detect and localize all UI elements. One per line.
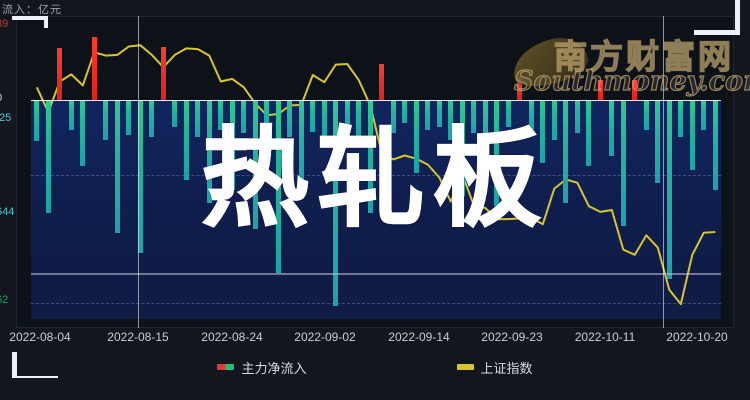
legend-label-index: 上证指数 [481,358,533,377]
x-axis-label-7: 2022-10-20 [666,330,727,344]
gridline-dashed-bottom [31,303,721,304]
x-axis-label-2: 2022-08-24 [201,330,262,344]
bar-49[interactable] [598,80,603,100]
y-axis-label-1: 0 [0,92,2,104]
legend-item-index[interactable]: 上证指数 [457,358,533,377]
y-axis-label-0: 39 [0,18,8,30]
x-axis-labels: 2022-08-042022-08-152022-08-242022-09-02… [0,330,750,348]
corner-bracket-bl-v [12,352,17,381]
gridline-lower [31,273,721,275]
legend-label-inflow: 主力净流入 [241,358,306,377]
y-axis-label-2: .25 [0,112,11,124]
legend-swatch-inflow-icon [217,364,234,370]
x-axis-label-6: 2022-10-11 [575,330,636,344]
x-axis-label-3: 2022-09-02 [294,330,355,344]
overlay-title: 热轧板 [0,126,750,234]
bar-12[interactable] [172,100,177,127]
x-axis-label-4: 2022-09-14 [388,330,449,344]
corner-bracket-tl-h [12,16,48,20]
y-axis-label-4: 62 [0,294,8,306]
bottom-strip [0,378,750,400]
corner-bracket-tr-h [694,30,740,35]
bar-11[interactable] [161,47,166,100]
chart-legend: 主力净流入 上证指数 [0,356,750,378]
bar-2[interactable] [57,48,62,100]
bar-5[interactable] [92,37,97,100]
gridline-zero [31,100,721,101]
corner-bracket-tr-v [735,0,740,35]
x-axis-label-5: 2022-09-23 [481,330,542,344]
bar-52[interactable] [632,80,637,100]
bar-30[interactable] [379,64,384,101]
x-axis-label-1: 2022-08-15 [107,330,168,344]
legend-item-inflow[interactable]: 主力净流入 [217,358,306,377]
y-axis-unit-caption: 流入：亿元 [2,1,62,17]
legend-swatch-index-icon [457,364,474,370]
x-axis-label-0: 2022-08-04 [9,330,70,344]
corner-bracket-tl-v [44,16,48,28]
chart-screenshot: 流入：亿元 390.2564462 2022-08-042022-08-1520… [0,0,750,400]
bar-42[interactable] [517,77,522,100]
